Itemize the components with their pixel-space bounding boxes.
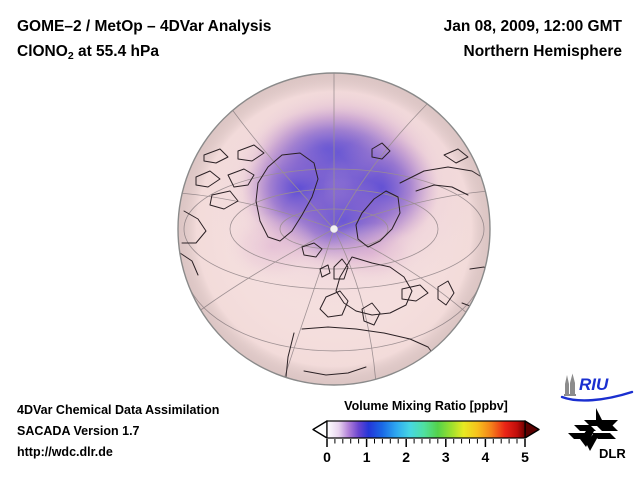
colorbar: Volume Mixing Ratio [ppbv] xyxy=(311,399,541,467)
colorbar-tick-labels: 0 1 2 3 4 5 xyxy=(323,449,529,465)
footer-line-url: http://wdc.dlr.de xyxy=(17,442,219,463)
colorbar-tick-0: 0 xyxy=(323,449,331,465)
visualization-page: GOME–2 / MetOp – 4DVar Analysis ClONO2 a… xyxy=(0,0,640,480)
header-left: GOME–2 / MetOp – 4DVar Analysis ClONO2 a… xyxy=(17,14,271,69)
datetime-label: Jan 08, 2009, 12:00 GMT xyxy=(444,14,622,39)
globe-svg xyxy=(176,71,492,387)
footer-line-version: SACADA Version 1.7 xyxy=(17,421,219,442)
dlr-mark-icon xyxy=(568,408,618,451)
colorbar-under-arrow xyxy=(313,421,327,438)
cathedral-icon xyxy=(564,374,576,397)
colorbar-gradient xyxy=(327,421,525,438)
dlr-logo-svg: DLR xyxy=(566,407,632,461)
colorbar-tick-2: 2 xyxy=(402,449,410,465)
hemisphere-label: Northern Hemisphere xyxy=(444,39,622,64)
dlr-wordmark: DLR xyxy=(599,446,626,461)
species-name: ClONO xyxy=(17,43,68,60)
riu-logo-svg: RIU xyxy=(560,372,634,402)
colorbar-title: Volume Mixing Ratio [ppbv] xyxy=(311,399,541,413)
colorbar-tick-5: 5 xyxy=(521,449,529,465)
coastline-arabia xyxy=(448,343,464,371)
colorbar-ticks xyxy=(327,439,525,447)
header-right: Jan 08, 2009, 12:00 GMT Northern Hemisph… xyxy=(444,14,622,64)
pressure-level: at 55.4 hPa xyxy=(74,43,159,60)
colorbar-tick-1: 1 xyxy=(363,449,371,465)
globe-map xyxy=(176,71,492,387)
riu-logo: RIU xyxy=(560,372,634,402)
dlr-logo: DLR xyxy=(566,407,632,461)
colorbar-over-arrow xyxy=(525,421,539,438)
colorbar-tick-4: 4 xyxy=(482,449,490,465)
species-pressure-line: ClONO2 at 55.4 hPa xyxy=(17,39,271,69)
footer-line-assimilation: 4DVar Chemical Data Assimilation xyxy=(17,400,219,421)
riu-wordmark: RIU xyxy=(579,375,609,394)
north-pole-marker xyxy=(330,225,337,232)
footer-info: 4DVar Chemical Data Assimilation SACADA … xyxy=(17,400,219,463)
colorbar-tick-3: 3 xyxy=(442,449,450,465)
colorbar-svg: 0 1 2 3 4 5 xyxy=(311,417,541,467)
title-line: GOME–2 / MetOp – 4DVar Analysis xyxy=(17,14,271,39)
